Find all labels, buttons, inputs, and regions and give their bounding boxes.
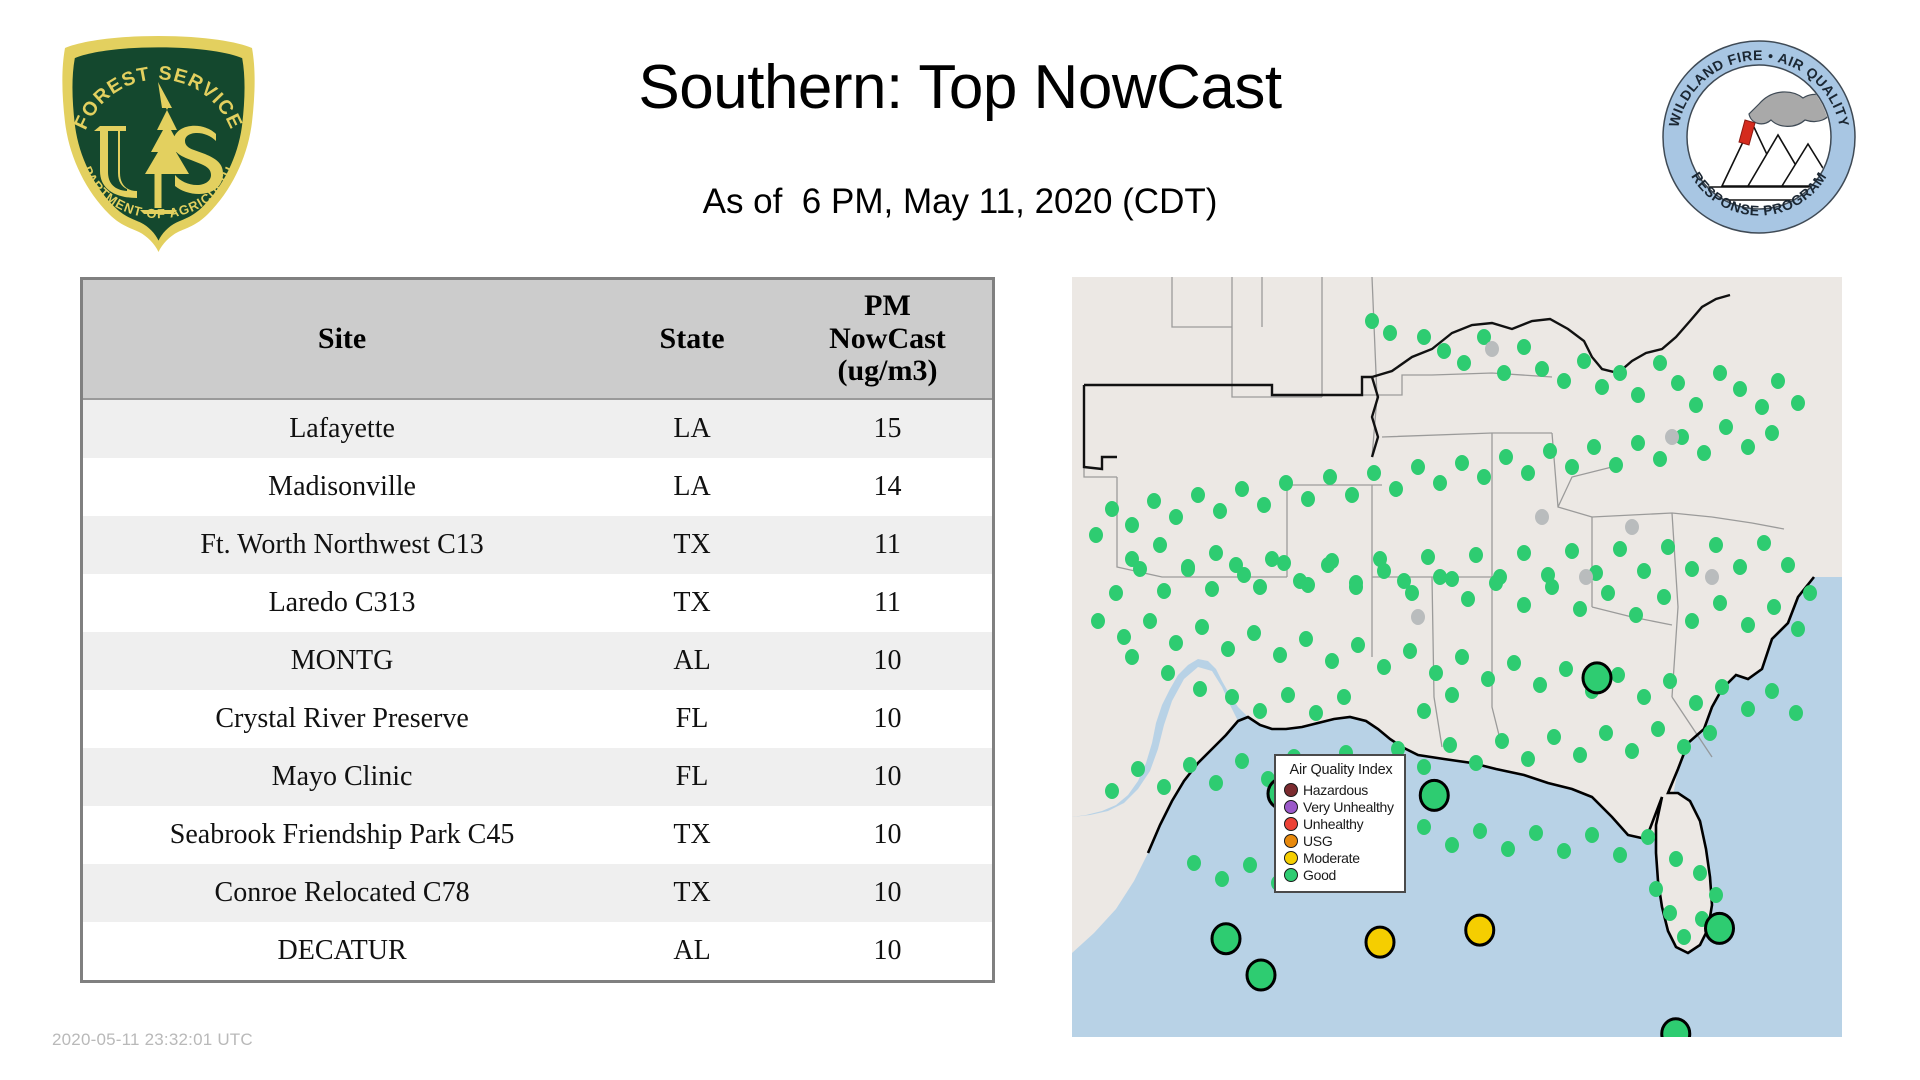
aqi-legend-row: Unhealthy (1284, 815, 1398, 832)
cell-site: Lafayette (83, 399, 601, 458)
map-monitor-dot[interactable] (1253, 703, 1267, 719)
map-monitor-dot[interactable] (1481, 671, 1495, 687)
map-monitor-dot[interactable] (1433, 569, 1447, 585)
wfaqrp-logo: WILDLAND FIRE • AIR QUALITY RESPONSE PRO… (1660, 38, 1858, 236)
table-row: Conroe Relocated C78TX10 (83, 864, 992, 922)
map-top-site-marker[interactable] (1420, 780, 1448, 810)
cell-site: Crystal River Preserve (83, 690, 601, 748)
map-monitor-dot[interactable] (1469, 547, 1483, 563)
map-monitor-dot[interactable] (1253, 579, 1267, 595)
map-monitor-dot[interactable] (1209, 775, 1223, 791)
map-monitor-dot[interactable] (1517, 597, 1531, 613)
nowcast-table-container: Site State PM NowCast (ug/m3) LafayetteL… (80, 277, 995, 983)
map-monitor-dot-nodata[interactable] (1705, 569, 1719, 585)
map-monitor-dot[interactable] (1221, 641, 1235, 657)
map-monitor-dot[interactable] (1613, 541, 1627, 557)
table-row: DECATURAL10 (83, 922, 992, 980)
map-monitor-dot[interactable] (1365, 313, 1379, 329)
map-monitor-dot[interactable] (1455, 455, 1469, 471)
map-monitor-dot[interactable] (1345, 487, 1359, 503)
map-monitor-dot[interactable] (1703, 725, 1717, 741)
map-monitor-dot[interactable] (1689, 695, 1703, 711)
map-monitor-dot[interactable] (1535, 361, 1549, 377)
map-monitor-dot[interactable] (1595, 379, 1609, 395)
map-monitor-dot[interactable] (1521, 465, 1535, 481)
column-header-state-label: State (660, 322, 725, 355)
map-monitor-dot[interactable] (1733, 381, 1747, 397)
map-monitor-dot[interactable] (1653, 451, 1667, 467)
map-monitor-dot[interactable] (1383, 325, 1397, 341)
map-monitor-dot[interactable] (1499, 449, 1513, 465)
map-monitor-dot[interactable] (1429, 665, 1443, 681)
map-monitor-dot[interactable] (1577, 353, 1591, 369)
map-monitor-dot[interactable] (1733, 559, 1747, 575)
map-monitor-dot[interactable] (1585, 827, 1599, 843)
map-monitor-dot[interactable] (1719, 419, 1733, 435)
map-monitor-dot[interactable] (1565, 459, 1579, 475)
cell-state: TX (601, 574, 783, 632)
map-monitor-dot[interactable] (1677, 929, 1691, 945)
nowcast-table: Site State PM NowCast (ug/m3) LafayetteL… (83, 280, 992, 980)
column-header-site-label: Site (318, 322, 366, 355)
cell-state: TX (601, 516, 783, 574)
table-row: LafayetteLA15 (83, 399, 992, 458)
column-header-site: Site (83, 280, 601, 399)
footer-timestamp: 2020-05-11 23:32:01 UTC (52, 1030, 253, 1050)
map-monitor-dot[interactable] (1229, 557, 1243, 573)
map-monitor-dot[interactable] (1277, 555, 1291, 571)
usfs-logo: FOREST SERVICE DEPARTMENT OF AGRICULTURE (56, 30, 261, 258)
cell-state: LA (601, 458, 783, 516)
map-monitor-dot-nodata[interactable] (1411, 609, 1425, 625)
page-title: Southern: Top NowCast (300, 52, 1620, 123)
map-monitor-dot[interactable] (1367, 465, 1381, 481)
map-monitor-dot[interactable] (1301, 491, 1315, 507)
map-monitor-dot[interactable] (1765, 683, 1779, 699)
map-monitor-dot[interactable] (1445, 687, 1459, 703)
map-monitor-dot[interactable] (1457, 355, 1471, 371)
map-monitor-dot[interactable] (1265, 551, 1279, 567)
map-monitor-dot[interactable] (1477, 469, 1491, 485)
map-monitor-dot[interactable] (1573, 747, 1587, 763)
map-monitor-dot[interactable] (1661, 539, 1675, 555)
map-monitor-dot-nodata[interactable] (1485, 341, 1499, 357)
map-monitor-dot[interactable] (1417, 759, 1431, 775)
map-monitor-dot[interactable] (1445, 837, 1459, 853)
map-monitor-dot[interactable] (1611, 667, 1625, 683)
map-monitor-dot[interactable] (1741, 701, 1755, 717)
column-header-pm-line1: PM (783, 290, 992, 322)
map-monitor-dot[interactable] (1573, 601, 1587, 617)
map-monitor-dot[interactable] (1713, 595, 1727, 611)
map-monitor-dot[interactable] (1377, 659, 1391, 675)
aqi-legend: Air Quality Index HazardousVery Unhealth… (1274, 754, 1406, 893)
cell-site: Conroe Relocated C78 (83, 864, 601, 922)
map-monitor-dot[interactable] (1771, 373, 1785, 389)
cell-value: 10 (783, 748, 992, 806)
cell-value: 11 (783, 516, 992, 574)
map-monitor-dot[interactable] (1709, 887, 1723, 903)
map-monitor-dot[interactable] (1755, 399, 1769, 415)
map-top-site-marker[interactable] (1366, 927, 1394, 957)
table-header: Site State PM NowCast (ug/m3) (83, 280, 992, 399)
aqi-swatch-icon (1284, 834, 1298, 848)
map-monitor-dot[interactable] (1281, 687, 1295, 703)
map-monitor-dot[interactable] (1637, 563, 1651, 579)
map-monitor-dot[interactable] (1653, 355, 1667, 371)
cell-state: AL (601, 632, 783, 690)
aqi-swatch-icon (1284, 800, 1298, 814)
map-monitor-dot[interactable] (1689, 397, 1703, 413)
map-monitor-dot[interactable] (1493, 569, 1507, 585)
map-monitor-dot[interactable] (1411, 459, 1425, 475)
map-monitor-dot[interactable] (1279, 475, 1293, 491)
map-monitor-dot[interactable] (1495, 733, 1509, 749)
map-monitor-dot[interactable] (1559, 661, 1573, 677)
aqi-swatch-icon (1284, 817, 1298, 831)
map-top-site-marker[interactable] (1706, 913, 1734, 943)
map-monitor-dot[interactable] (1781, 557, 1795, 573)
map-monitor-dot[interactable] (1663, 673, 1677, 689)
map-monitor-dot[interactable] (1663, 905, 1677, 921)
map-monitor-dot[interactable] (1741, 617, 1755, 633)
map-monitor-dot[interactable] (1685, 613, 1699, 629)
aqi-legend-title: Air Quality Index (1284, 762, 1398, 778)
map-monitor-dot[interactable] (1325, 653, 1339, 669)
aqi-legend-label: USG (1303, 834, 1332, 848)
map-monitor-dot-nodata[interactable] (1625, 519, 1639, 535)
map-monitor-dot[interactable] (1599, 725, 1613, 741)
map-monitor-dot[interactable] (1709, 537, 1723, 553)
map-monitor-dot[interactable] (1529, 825, 1543, 841)
map-monitor-dot[interactable] (1325, 553, 1339, 569)
map-top-site-marker[interactable] (1583, 663, 1611, 693)
map-monitor-dot[interactable] (1191, 487, 1205, 503)
aqi-legend-label: Hazardous (1303, 783, 1368, 797)
column-header-pm-line3: (ug/m3) (783, 355, 992, 387)
cell-site: Seabrook Friendship Park C45 (83, 806, 601, 864)
cell-state: TX (601, 864, 783, 922)
cell-site: DECATUR (83, 922, 601, 980)
map-monitor-dot[interactable] (1547, 729, 1561, 745)
air-quality-map[interactable]: Air Quality Index HazardousVery Unhealth… (1072, 277, 1842, 1037)
map-monitor-dot[interactable] (1117, 629, 1131, 645)
map-monitor-dot[interactable] (1791, 621, 1805, 637)
map-monitor-dot-nodata[interactable] (1535, 509, 1549, 525)
map-monitor-dot[interactable] (1767, 599, 1781, 615)
map-monitor-dot[interactable] (1803, 585, 1817, 601)
map-monitor-dot[interactable] (1351, 637, 1365, 653)
column-header-pm-line2: NowCast (783, 323, 992, 355)
map-monitor-dot[interactable] (1213, 503, 1227, 519)
aqi-legend-row: Moderate (1284, 849, 1398, 866)
map-monitor-dot[interactable] (1455, 649, 1469, 665)
table-row: Mayo ClinicFL10 (83, 748, 992, 806)
map-monitor-dot[interactable] (1601, 585, 1615, 601)
map-top-site-marker[interactable] (1212, 924, 1240, 954)
map-monitor-dot[interactable] (1693, 865, 1707, 881)
column-header-pm-nowcast: PM NowCast (ug/m3) (783, 280, 992, 399)
map-monitor-dot[interactable] (1433, 475, 1447, 491)
map-monitor-dot[interactable] (1543, 443, 1557, 459)
map-top-site-marker[interactable] (1247, 960, 1275, 990)
map-monitor-dot[interactable] (1587, 439, 1601, 455)
map-monitor-dot[interactable] (1209, 545, 1223, 561)
table-header-row: Site State PM NowCast (ug/m3) (83, 280, 992, 399)
map-monitor-dot[interactable] (1625, 743, 1639, 759)
map-monitor-dot[interactable] (1161, 665, 1175, 681)
cell-state: TX (601, 806, 783, 864)
map-monitor-dot[interactable] (1631, 387, 1645, 403)
cell-value: 10 (783, 690, 992, 748)
cell-state: AL (601, 922, 783, 980)
map-monitor-dot[interactable] (1403, 643, 1417, 659)
map-monitor-dot[interactable] (1301, 577, 1315, 593)
map-monitor-dot[interactable] (1349, 575, 1363, 591)
table-row: Seabrook Friendship Park C45TX10 (83, 806, 992, 864)
cell-value: 11 (783, 574, 992, 632)
column-header-state: State (601, 280, 783, 399)
map-monitor-dot[interactable] (1443, 737, 1457, 753)
aqi-legend-label: Very Unhealthy (1303, 800, 1394, 814)
map-monitor-dot[interactable] (1557, 373, 1571, 389)
map-monitor-dot[interactable] (1417, 329, 1431, 345)
map-monitor-dot[interactable] (1183, 757, 1197, 773)
table-row: Ft. Worth Northwest C13TX11 (83, 516, 992, 574)
map-monitor-dot[interactable] (1125, 649, 1139, 665)
map-monitor-dot[interactable] (1131, 761, 1145, 777)
map-monitor-dot[interactable] (1389, 481, 1403, 497)
cell-site: Mayo Clinic (83, 748, 601, 806)
cell-site: Laredo C313 (83, 574, 601, 632)
map-monitor-dot[interactable] (1247, 625, 1261, 641)
map-monitor-dot[interactable] (1517, 339, 1531, 355)
cell-state: FL (601, 748, 783, 806)
map-top-site-marker[interactable] (1466, 915, 1494, 945)
map-monitor-dot[interactable] (1469, 755, 1483, 771)
map-canvas (1072, 277, 1842, 1037)
cell-value: 10 (783, 922, 992, 980)
table-row: Laredo C313TX11 (83, 574, 992, 632)
aqi-swatch-icon (1284, 868, 1298, 882)
map-monitor-dot[interactable] (1157, 779, 1171, 795)
map-monitor-dot[interactable] (1715, 679, 1729, 695)
map-monitor-dot[interactable] (1671, 375, 1685, 391)
usfs-shield-icon: FOREST SERVICE DEPARTMENT OF AGRICULTURE (56, 30, 261, 258)
map-monitor-dot[interactable] (1143, 613, 1157, 629)
cell-site: Ft. Worth Northwest C13 (83, 516, 601, 574)
table-row: MadisonvilleLA14 (83, 458, 992, 516)
map-monitor-dot[interactable] (1105, 783, 1119, 799)
map-monitor-dot[interactable] (1757, 535, 1771, 551)
map-monitor-dot[interactable] (1765, 425, 1779, 441)
map-monitor-dot[interactable] (1225, 689, 1239, 705)
cell-value: 10 (783, 632, 992, 690)
map-monitor-dot[interactable] (1473, 823, 1487, 839)
map-monitor-dot[interactable] (1651, 721, 1665, 737)
map-monitor-dot[interactable] (1677, 739, 1691, 755)
map-monitor-dot[interactable] (1089, 527, 1103, 543)
cell-state: FL (601, 690, 783, 748)
aqi-legend-label: Unhealthy (1303, 817, 1363, 831)
map-monitor-dot[interactable] (1235, 481, 1249, 497)
table-row: Crystal River PreserveFL10 (83, 690, 992, 748)
map-monitor-dot[interactable] (1205, 581, 1219, 597)
map-monitor-dot[interactable] (1541, 567, 1555, 583)
cell-value: 14 (783, 458, 992, 516)
map-monitor-dot[interactable] (1613, 365, 1627, 381)
page-subtitle: As of 6 PM, May 11, 2020 (CDT) (300, 182, 1620, 222)
map-monitor-dot[interactable] (1133, 561, 1147, 577)
aqi-legend-label: Good (1303, 868, 1336, 882)
map-monitor-dot[interactable] (1397, 573, 1411, 589)
wfaqrp-seal-icon: WILDLAND FIRE • AIR QUALITY RESPONSE PRO… (1660, 38, 1858, 236)
table-body: LafayetteLA15MadisonvilleLA14Ft. Worth N… (83, 399, 992, 980)
map-monitor-dot[interactable] (1195, 619, 1209, 635)
map-monitor-dot[interactable] (1497, 365, 1511, 381)
map-monitor-dot[interactable] (1193, 681, 1207, 697)
map-monitor-dot-nodata[interactable] (1579, 569, 1593, 585)
map-monitor-dot[interactable] (1565, 543, 1579, 559)
map-monitor-dot[interactable] (1157, 583, 1171, 599)
map-monitor-dot[interactable] (1637, 689, 1651, 705)
aqi-swatch-icon (1284, 783, 1298, 797)
map-monitor-dot[interactable] (1215, 871, 1229, 887)
map-monitor-dot[interactable] (1169, 635, 1183, 651)
map-monitor-dot[interactable] (1437, 343, 1451, 359)
cell-value: 10 (783, 864, 992, 922)
map-monitor-dot[interactable] (1501, 841, 1515, 857)
map-monitor-dot[interactable] (1417, 703, 1431, 719)
map-monitor-dot[interactable] (1669, 851, 1683, 867)
map-monitor-dot[interactable] (1169, 509, 1183, 525)
map-monitor-dot[interactable] (1147, 493, 1161, 509)
map-top-site-marker[interactable] (1662, 1019, 1690, 1037)
map-monitor-dot[interactable] (1629, 607, 1643, 623)
map-monitor-dot[interactable] (1421, 549, 1435, 565)
map-monitor-dot[interactable] (1235, 753, 1249, 769)
map-monitor-dot[interactable] (1461, 591, 1475, 607)
map-monitor-dot[interactable] (1257, 497, 1271, 513)
map-monitor-dot[interactable] (1091, 613, 1105, 629)
aqi-legend-row: Very Unhealthy (1284, 798, 1398, 815)
map-monitor-dot[interactable] (1557, 843, 1571, 859)
aqi-swatch-icon (1284, 851, 1298, 865)
map-monitor-dot[interactable] (1741, 439, 1755, 455)
map-monitor-dot[interactable] (1641, 829, 1655, 845)
map-monitor-dot[interactable] (1337, 689, 1351, 705)
aqi-legend-row: Good (1284, 866, 1398, 883)
map-monitor-dot[interactable] (1609, 457, 1623, 473)
map-monitor-dot[interactable] (1109, 585, 1123, 601)
map-monitor-dot[interactable] (1657, 589, 1671, 605)
map-monitor-dot-nodata[interactable] (1665, 429, 1679, 445)
map-monitor-dot[interactable] (1791, 395, 1805, 411)
map-monitor-dot[interactable] (1613, 847, 1627, 863)
map-monitor-dot[interactable] (1517, 545, 1531, 561)
map-monitor-dot[interactable] (1789, 705, 1803, 721)
map-monitor-dot[interactable] (1299, 631, 1313, 647)
map-monitor-dot[interactable] (1685, 561, 1699, 577)
aqi-legend-label: Moderate (1303, 851, 1360, 865)
map-monitor-dot[interactable] (1631, 435, 1645, 451)
map-monitor-dot[interactable] (1713, 365, 1727, 381)
aqi-legend-row: Hazardous (1284, 781, 1398, 798)
cell-value: 10 (783, 806, 992, 864)
cell-site: Madisonville (83, 458, 601, 516)
map-monitor-dot[interactable] (1697, 445, 1711, 461)
table-row: MONTGAL10 (83, 632, 992, 690)
map-monitor-dot[interactable] (1533, 677, 1547, 693)
map-monitor-dot[interactable] (1309, 705, 1323, 721)
map-monitor-dot[interactable] (1187, 855, 1201, 871)
map-monitor-dot[interactable] (1181, 559, 1195, 575)
map-monitor-dot[interactable] (1323, 469, 1337, 485)
map-monitor-dot[interactable] (1649, 881, 1663, 897)
map-monitor-dot[interactable] (1521, 751, 1535, 767)
map-monitor-dot[interactable] (1153, 537, 1167, 553)
cell-site: MONTG (83, 632, 601, 690)
map-monitor-dot[interactable] (1273, 647, 1287, 663)
cell-state: LA (601, 399, 783, 458)
cell-value: 15 (783, 399, 992, 458)
map-monitor-dot[interactable] (1105, 501, 1119, 517)
aqi-legend-row: USG (1284, 832, 1398, 849)
map-monitor-dot[interactable] (1445, 571, 1459, 587)
map-monitor-dot[interactable] (1243, 857, 1257, 873)
map-monitor-dot[interactable] (1507, 655, 1521, 671)
map-monitor-dot[interactable] (1373, 551, 1387, 567)
map-monitor-dot[interactable] (1125, 517, 1139, 533)
map-monitor-dot[interactable] (1417, 819, 1431, 835)
